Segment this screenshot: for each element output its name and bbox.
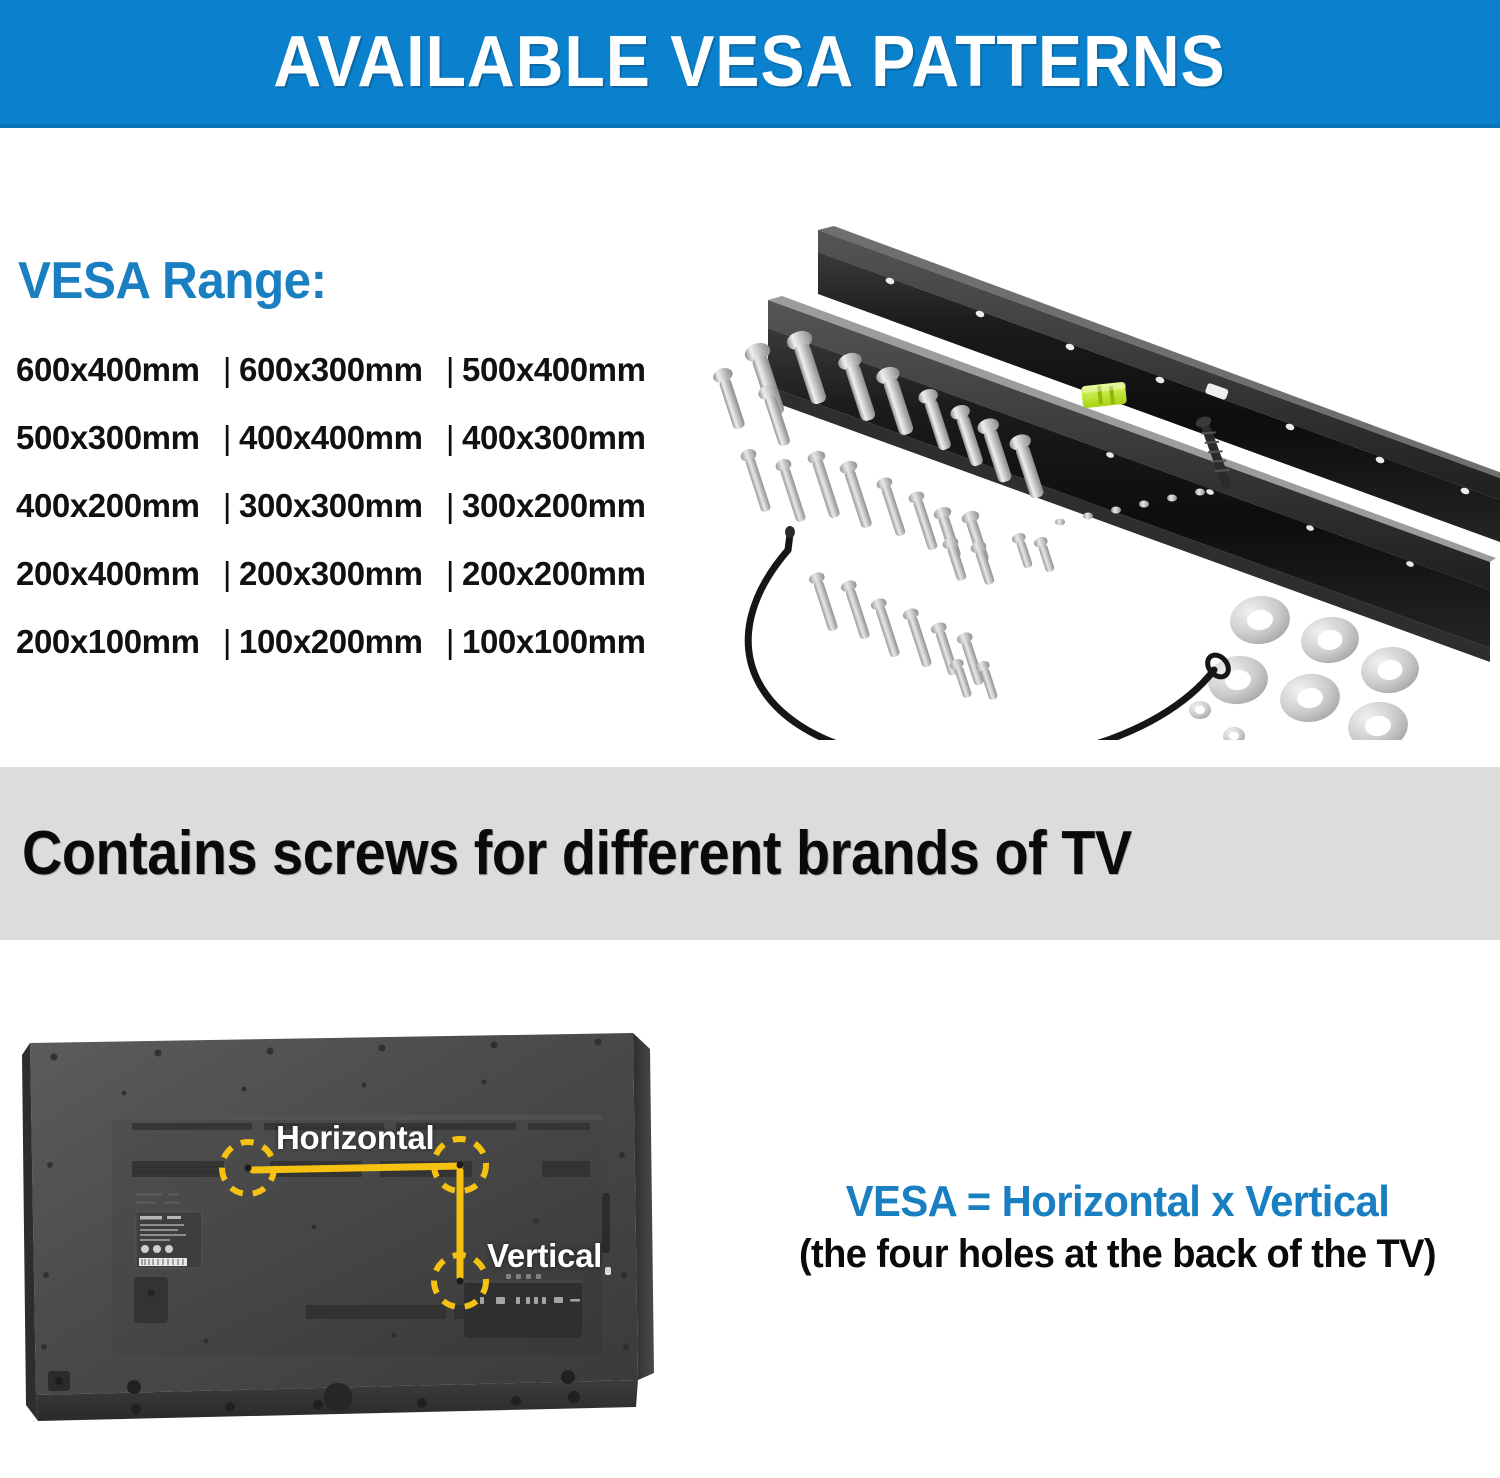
vesa-formula-subtext: (the four holes at the back of the TV) bbox=[764, 1232, 1472, 1277]
vesa-row: 500x300mm | 400x400mm | 400x300mm bbox=[16, 419, 706, 457]
vesa-separator: | bbox=[215, 555, 239, 593]
vesa-formula-line: VESA = Horizontal x Vertical bbox=[764, 1178, 1472, 1226]
vesa-size: 300x300mm bbox=[239, 487, 438, 525]
vesa-size: 600x300mm bbox=[239, 351, 438, 389]
vesa-row: 400x200mm | 300x300mm | 300x200mm bbox=[16, 487, 706, 525]
vesa-size: 400x400mm bbox=[239, 419, 438, 457]
vesa-separator: | bbox=[438, 351, 462, 389]
vesa-separator: | bbox=[438, 419, 462, 457]
vesa-size: 400x300mm bbox=[462, 419, 661, 457]
vesa-range-heading: VESA Range: bbox=[18, 255, 672, 307]
vesa-row: 600x400mm | 600x300mm | 500x400mm bbox=[16, 351, 706, 389]
header-banner: AVAILABLE VESA PATTERNS bbox=[0, 0, 1500, 128]
vesa-separator: | bbox=[438, 487, 462, 525]
vesa-size: 500x400mm bbox=[462, 351, 661, 389]
bubble-level-icon bbox=[1081, 382, 1127, 409]
mounting-hardware-photo bbox=[690, 170, 1500, 740]
vesa-formula-section: VESA = Horizontal x Vertical (the four h… bbox=[745, 1178, 1490, 1276]
vesa-size: 100x100mm bbox=[462, 623, 661, 661]
vesa-row: 200x100mm | 100x200mm | 100x100mm bbox=[16, 623, 706, 661]
vesa-size: 600x400mm bbox=[16, 351, 215, 389]
vesa-separator: | bbox=[215, 351, 239, 389]
label-vertical: Vertical bbox=[487, 1237, 602, 1275]
vesa-range-list: 600x400mm | 600x300mm | 500x400mm 500x30… bbox=[16, 351, 706, 661]
screws-banner: Contains screws for different brands of … bbox=[0, 767, 1500, 940]
vesa-size: 200x300mm bbox=[239, 555, 438, 593]
vesa-size: 500x300mm bbox=[16, 419, 215, 457]
tv-back-photo: Horizontal Vertical bbox=[8, 975, 708, 1455]
vesa-separator: | bbox=[215, 419, 239, 457]
vesa-separator: | bbox=[438, 623, 462, 661]
vesa-separator: | bbox=[215, 623, 239, 661]
vesa-size: 200x400mm bbox=[16, 555, 215, 593]
screws-banner-text: Contains screws for different brands of … bbox=[22, 818, 1132, 889]
vesa-size: 100x200mm bbox=[239, 623, 438, 661]
vesa-size: 200x200mm bbox=[462, 555, 661, 593]
vesa-size: 300x200mm bbox=[462, 487, 661, 525]
vesa-row: 200x400mm | 200x300mm | 200x200mm bbox=[16, 555, 706, 593]
page-title: AVAILABLE VESA PATTERNS bbox=[274, 26, 1226, 98]
vesa-separator: | bbox=[438, 555, 462, 593]
label-horizontal: Horizontal bbox=[276, 1119, 434, 1157]
tv-ports-panel bbox=[464, 1274, 582, 1338]
vesa-size: 200x100mm bbox=[16, 623, 215, 661]
vesa-size: 400x200mm bbox=[16, 487, 215, 525]
vesa-range-section: VESA Range: 600x400mm | 600x300mm | 500x… bbox=[16, 255, 706, 661]
vesa-separator: | bbox=[215, 487, 239, 525]
